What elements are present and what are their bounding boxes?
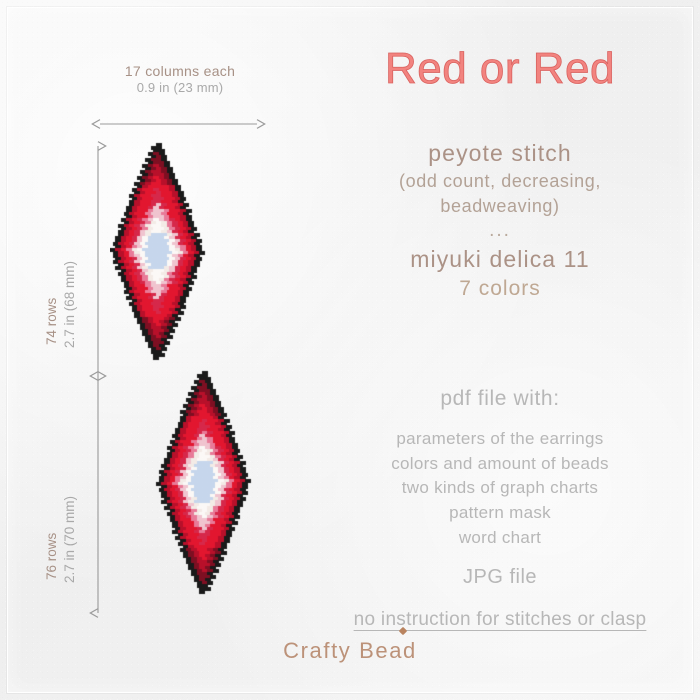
file-contents-block: pdf file with: parameters of the earring… (300, 387, 700, 631)
brand-name-part2-wrap: Bead (359, 638, 417, 663)
columns-count-text: 17 columns each (125, 63, 235, 79)
content-item: colors and amount of beads (300, 452, 700, 477)
columns-size-text: 0.9 in (23 mm) (96, 80, 264, 96)
beaded-earrings-diagram (110, 140, 300, 620)
separator-dots: ... (310, 218, 690, 244)
brand-name-part2: Bead (359, 638, 417, 663)
top-earring-rows-text: 74 rows (44, 298, 59, 345)
page-title: Red or Red (300, 44, 700, 94)
pdf-heading: pdf file with: (300, 387, 700, 411)
stitch-type-text: peyote stitch (310, 138, 690, 169)
spacer (300, 550, 700, 566)
brand-logo: Crafty Bead (0, 638, 700, 664)
content-item: word chart (300, 526, 700, 551)
bottom-earring-size-text: 2.7 in (70 mm) (62, 496, 77, 583)
brand-name-part1: Crafty (283, 638, 351, 663)
info-column: Red or Red peyote stitch (odd count, dec… (300, 0, 700, 700)
content-item: two kinds of graph charts (300, 476, 700, 501)
bottom-earring-dimension-label: 76 rows (44, 533, 59, 580)
bottom-earring-size-label: 2.7 in (70 mm) (62, 496, 77, 583)
color-count-text: 7 colors (310, 275, 690, 304)
technique-block: peyote stitch (odd count, decreasing, be… (310, 138, 690, 304)
bead-pattern-area: 17 columns each 0.9 in (23 mm) 74 rows 2… (0, 0, 300, 700)
top-earring-dimension-label: 74 rows (44, 298, 59, 345)
stitch-detail-line2: beadweaving) (310, 194, 690, 218)
content-item: parameters of the earrings (300, 427, 700, 452)
bottom-earring-height-arrow (86, 368, 112, 626)
top-earring-size-text: 2.7 in (68 mm) (62, 261, 77, 348)
bottom-earring-rows-text: 76 rows (44, 533, 59, 580)
bead-type-text: miyuki delica 11 (310, 244, 690, 275)
poster-canvas: 17 columns each 0.9 in (23 mm) 74 rows 2… (0, 0, 700, 700)
width-dimension-arrow (92, 112, 272, 138)
no-instruction-note: no instruction for stitches or clasp (300, 609, 700, 631)
top-earring-size-label: 2.7 in (68 mm) (62, 261, 77, 348)
content-item: pattern mask (300, 501, 700, 526)
jpg-file-text: JPG file (300, 566, 700, 589)
stitch-detail-line1: (odd count, decreasing, (310, 169, 690, 193)
columns-dimension-label: 17 columns each 0.9 in (23 mm) (96, 63, 264, 96)
top-earring-height-arrow (86, 138, 112, 388)
